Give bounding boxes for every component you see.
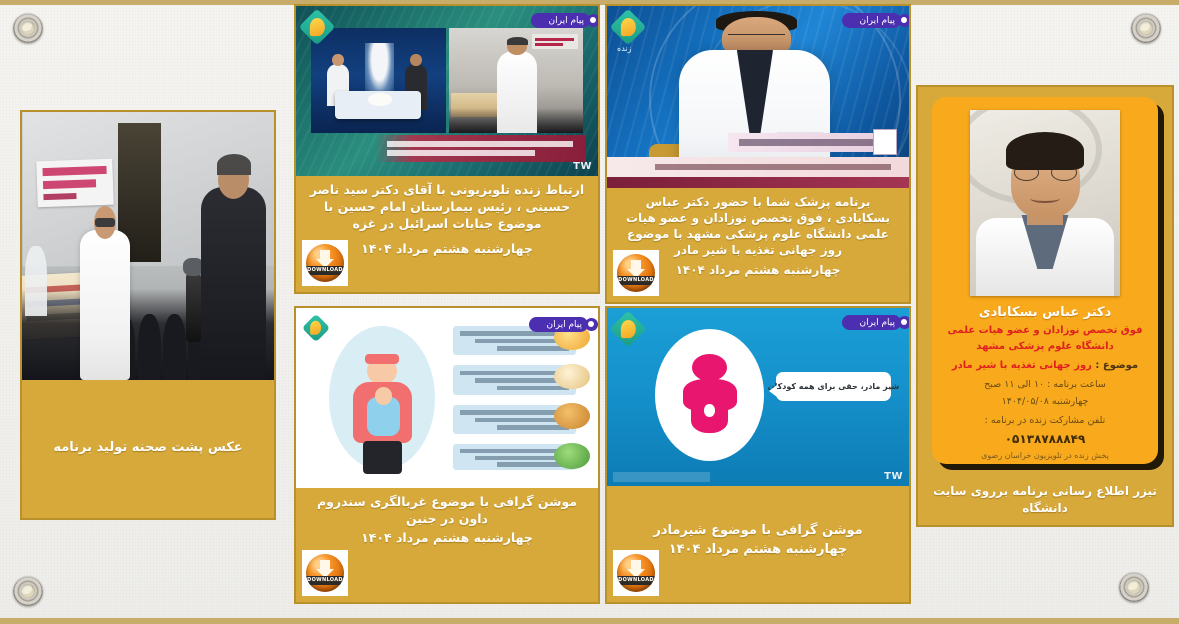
studio-graphic xyxy=(365,43,395,98)
poster-footer: پخش زنده در تلویزیون خراسان رضوی xyxy=(981,451,1109,460)
rivet-bottom-right-icon xyxy=(1119,572,1149,602)
hospital-photo-media xyxy=(22,112,274,380)
mother-legs xyxy=(363,441,402,474)
poster-phone-label: تلفن مشارکت زنده در برنامه : xyxy=(985,413,1106,428)
doctor-program-date: چهارشنبه هشتم مرداد ۱۴۰۴ xyxy=(617,262,899,278)
split-screen xyxy=(311,28,583,133)
hospital-entrance-sign xyxy=(36,159,113,207)
baby-pink-icon xyxy=(683,354,737,432)
brand-pill-badge: پیام ایران xyxy=(842,13,901,28)
breastmilk-date: چهارشنبه هشتم مرداد ۱۴۰۴ xyxy=(617,541,899,558)
lower-third-overlay xyxy=(375,135,586,162)
poster-media: دکتر عباس بسکابادی فوق تخصص نوزادان و عض… xyxy=(918,87,1172,472)
portrait-mouth xyxy=(1030,194,1060,203)
card-announcement-poster[interactable]: دکتر عباس بسکابادی فوق تخصص نوزادان و عض… xyxy=(916,85,1174,527)
download-badge-button[interactable]: DOWNLOAD xyxy=(302,240,348,286)
channel-logo-icon xyxy=(610,311,647,348)
staff-white-coat xyxy=(25,246,48,316)
download-icon: DOWNLOAD xyxy=(617,554,655,592)
breastmilk-caption: موشن گرافی با موضوع شیرمادر چهارشنبه هشت… xyxy=(607,486,909,602)
tw-watermark: TW xyxy=(884,471,903,482)
speech-bubble-text: شیر مادر، حقی برای همه کودکان xyxy=(768,382,899,391)
poster-phone-number[interactable]: ۰۵۱۳۸۷۸۸۸۴۹ xyxy=(1005,432,1086,446)
tw-watermark: TW xyxy=(573,161,592,172)
download-badge-button[interactable]: DOWNLOAD xyxy=(613,550,659,596)
name-tag-logo-icon xyxy=(873,129,897,155)
down-syndrome-caption-text: موشن گرافی با موضوع غربالگری سندروم داون… xyxy=(317,494,577,526)
news-ticker-bar xyxy=(607,157,909,177)
guest-glasses-icon xyxy=(728,34,785,42)
breastmilk-caption-text: موشن گرافی با موضوع شیرمادر xyxy=(653,523,862,538)
card-live-tv-interview[interactable]: پیام ایران TW ار xyxy=(294,4,600,294)
field-sign xyxy=(532,34,578,49)
channel-logo-icon xyxy=(302,314,330,342)
live-tv-caption-text: ارتباط زنده تلویزیونی با آقای دکتر سید ن… xyxy=(310,182,584,231)
reporter-figure xyxy=(201,187,267,380)
live-tv-frame: پیام ایران TW xyxy=(296,6,598,176)
download-label: DOWNLOAD xyxy=(306,576,344,585)
announcement-poster: دکتر عباس بسکابادی فوق تخصص نوزادان و عض… xyxy=(932,97,1158,464)
baby-illustration xyxy=(367,397,401,435)
doctor-portrait xyxy=(970,110,1120,296)
lower-strip xyxy=(613,472,710,483)
vegetables-icon xyxy=(554,443,589,469)
poster-subject-row: موضوع : روز جهانی تغذیه با شیر مادر xyxy=(952,360,1138,371)
interviewee-figure xyxy=(497,51,537,133)
mother-illustration xyxy=(350,346,415,473)
brand-label: پیام ایران xyxy=(549,16,584,26)
brand-label: پیام ایران xyxy=(860,318,895,328)
card-breastmilk-motion[interactable]: پیام ایران شیر مادر، حقی برای همه کودکان… xyxy=(605,306,911,604)
down-syndrome-date: چهارشنبه هشتم مرداد ۱۴۰۴ xyxy=(306,530,588,547)
download-badge-button[interactable]: DOWNLOAD xyxy=(613,250,659,296)
studio-pane xyxy=(311,28,445,133)
studio-flowers xyxy=(368,93,392,106)
speech-bubble: شیر مادر، حقی برای همه کودکان xyxy=(776,372,891,400)
brand-label: پیام ایران xyxy=(547,320,582,330)
infographic-media: پیام ایران xyxy=(296,308,598,488)
poster-title-line-1: فوق تخصص نوزادان و عضو هیات علمی xyxy=(947,324,1142,339)
poster-date-line: چهارشنبه ۱۴۰۴/۰۵/۰۸ xyxy=(1002,394,1089,409)
brand-label: پیام ایران xyxy=(860,16,895,26)
download-icon: DOWNLOAD xyxy=(306,554,344,592)
brand-pill-badge: پیام ایران xyxy=(529,317,588,332)
rivet-top-left-icon xyxy=(13,13,43,43)
nuts-icon xyxy=(554,364,589,390)
hospital-photo-image xyxy=(22,112,274,380)
news-ticker-bar-lower xyxy=(607,177,909,188)
download-icon: DOWNLOAD xyxy=(306,244,344,282)
field-pane xyxy=(449,28,583,133)
doctor-program-media: زنده پیام ایران xyxy=(607,6,909,188)
download-label: DOWNLOAD xyxy=(617,276,655,285)
breastmilk-media: پیام ایران شیر مادر، حقی برای همه کودکان… xyxy=(607,308,909,486)
hospital-photo-caption-text: عکس پشت صحنه تولید برنامه xyxy=(53,439,242,456)
download-icon: DOWNLOAD xyxy=(617,254,655,292)
poster-caption: تیزر اطلاع رسانی برنامه برروی سایت دانشگ… xyxy=(918,472,1172,525)
card-hospital-photo[interactable]: عکس پشت صحنه تولید برنامه xyxy=(20,110,276,520)
portrait-glasses-icon xyxy=(1014,164,1077,181)
guest-name-tag xyxy=(728,133,885,151)
portrait-coat xyxy=(976,218,1114,296)
hospital-photo-caption: عکس پشت صحنه تولید برنامه xyxy=(22,380,274,518)
doctor-tv-frame: زنده پیام ایران xyxy=(607,6,909,188)
poster-subject-value: روز جهانی تغذیه با شیر مادر xyxy=(952,360,1092,371)
doctor-figure xyxy=(80,230,130,380)
poster-caption-text: تیزر اطلاع رسانی برنامه برروی سایت دانشگ… xyxy=(928,483,1162,515)
live-tv-caption: ارتباط زنده تلویزیونی با آقای دکتر سید ن… xyxy=(296,176,598,292)
download-label: DOWNLOAD xyxy=(306,266,344,275)
grains-icon xyxy=(554,403,589,429)
card-doctor-program[interactable]: زنده پیام ایران برنامه پزشک شما با حضور … xyxy=(605,4,911,304)
doctor-program-caption-text: برنامه پزشک شما با حضور دکتر عباس بسکابا… xyxy=(626,195,890,257)
down-syndrome-caption: موشن گرافی با موضوع غربالگری سندروم داون… xyxy=(296,488,598,602)
live-indicator-label: زنده xyxy=(617,44,631,53)
download-label: DOWNLOAD xyxy=(617,576,655,585)
poster-time-line: ساعت برنامه : ۱۰ الی ۱۱ صبح xyxy=(984,377,1106,392)
doctor-program-caption: برنامه پزشک شما با حضور دکتر عباس بسکابا… xyxy=(607,188,909,302)
channel-logo-icon xyxy=(610,9,647,46)
poster-doctor-name: دکتر عباس بسکابادی xyxy=(979,305,1112,320)
rivet-bottom-left-icon xyxy=(13,576,43,606)
mother-headband xyxy=(365,354,399,364)
microphone-icon xyxy=(186,273,201,343)
poster-subject-label: موضوع : xyxy=(1095,360,1138,371)
poster-title-line-2: دانشگاه علوم پزشکی مشهد xyxy=(976,340,1113,355)
card-down-syndrome-motion[interactable]: پیام ایران موشن گرافی با موضوع غربالگری … xyxy=(294,306,600,604)
brand-pill-badge: پیام ایران xyxy=(531,13,590,28)
rivet-top-right-icon xyxy=(1131,13,1161,43)
breastmilk-frame: پیام ایران شیر مادر، حقی برای همه کودکان… xyxy=(607,308,909,486)
brand-pill-badge: پیام ایران xyxy=(842,315,901,330)
live-tv-date: چهارشنبه هشتم مرداد ۱۴۰۴ xyxy=(306,241,588,258)
infographic-image: پیام ایران xyxy=(300,312,594,484)
live-tv-media: پیام ایران TW xyxy=(296,6,598,176)
download-badge-button[interactable]: DOWNLOAD xyxy=(302,550,348,596)
